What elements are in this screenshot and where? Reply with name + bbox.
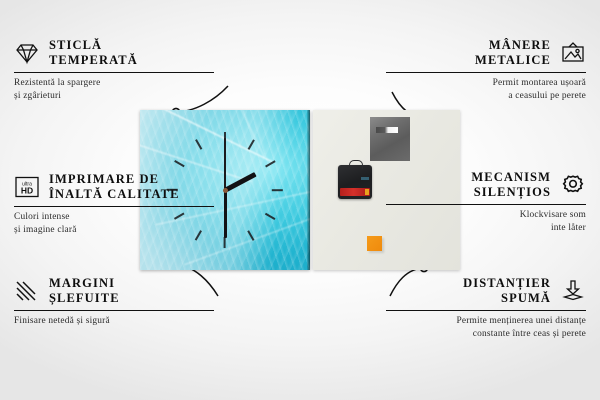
feature-subtitle: Culori intenseși imagine clară: [14, 211, 214, 236]
minute-hand: [224, 190, 227, 238]
feature-tempered-glass: STICLĂTEMPERATĂ Rezistentă la spargereși…: [14, 38, 214, 102]
feature-subtitle: Finisare netedă și sigură: [14, 315, 214, 328]
clock-center-pin: [223, 188, 228, 193]
divider: [386, 310, 586, 312]
feature-silent-mechanism: MECANISMSILENȚIOS Klockvisare sominte lå…: [386, 170, 586, 234]
feature-title: MECANISMSILENȚIOS: [471, 170, 551, 201]
divider: [386, 204, 586, 206]
mechanism-detail: [361, 177, 369, 180]
feature-metal-handles: MÂNEREMETALICE Permit montarea ușoarăa c…: [386, 38, 586, 102]
feature-foam-spacer: DISTANȚIERSPUMĂ Permite menținerea unei …: [386, 276, 586, 340]
feature-polished-edges: MARGINIȘLEFUITE Finisare netedă și sigur…: [14, 276, 214, 328]
feature-subtitle: Klockvisare sominte låter: [386, 209, 586, 234]
feature-hd-print: ultra HD IMPRIMARE DEÎNALTĂ CALITATE Cul…: [14, 172, 214, 236]
feature-title: STICLĂTEMPERATĂ: [49, 38, 138, 69]
feature-subtitle: Permit montarea ușoarăa ceasului pe pere…: [386, 77, 586, 102]
arrow-down-layers-icon: [560, 279, 586, 303]
quartz-mechanism: [338, 165, 372, 199]
hanger-plate: [370, 117, 410, 161]
infographic-canvas: STICLĂTEMPERATĂ Rezistentă la spargereși…: [0, 0, 600, 400]
divider: [14, 72, 214, 74]
divider: [386, 72, 586, 74]
feature-title: DISTANȚIERSPUMĂ: [463, 276, 551, 307]
feature-subtitle: Permite menținerea unei distanțeconstant…: [386, 315, 586, 340]
divider: [14, 310, 214, 312]
picture-hanger-icon: [560, 41, 586, 65]
feature-title: IMPRIMARE DEÎNALTĂ CALITATE: [49, 172, 180, 203]
diagonal-lines-icon: [14, 279, 40, 303]
battery: [340, 188, 370, 196]
feature-subtitle: Rezistentă la spargereși zgârieturi: [14, 77, 214, 102]
hanger-loop: [349, 160, 363, 169]
feature-title: MARGINIȘLEFUITE: [49, 276, 120, 307]
feature-title: MÂNEREMETALICE: [475, 38, 551, 69]
diamond-icon: [14, 41, 40, 65]
divider: [14, 206, 214, 208]
gear-icon: [560, 173, 586, 197]
svg-text:HD: HD: [21, 186, 33, 196]
foam-spacer-pad: [367, 236, 382, 251]
ultra-hd-icon: ultra HD: [14, 175, 40, 199]
